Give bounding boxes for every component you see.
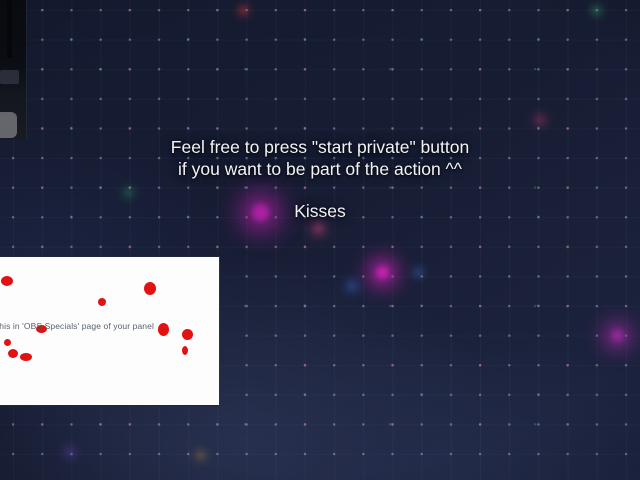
grid-lines: [0, 0, 640, 480]
grid-dots: [0, 0, 640, 480]
overlay-message: Feel free to press "start private" butto…: [0, 136, 640, 180]
sliver-pill-button[interactable]: [0, 112, 17, 138]
glow-violet-1: [67, 449, 73, 455]
vignette-overlay: [0, 0, 640, 480]
marker-6: [182, 346, 188, 355]
marker-8: [8, 349, 18, 358]
grid-dots-blue: [0, 0, 640, 480]
background-grid: [0, 0, 640, 480]
marker-3: [1, 276, 13, 286]
glow-green-2: [126, 190, 131, 195]
glow-pink-1: [315, 225, 322, 232]
glow-magenta-3: [611, 329, 624, 342]
marker-9: [20, 353, 32, 361]
grid-dots-pink: [0, 0, 640, 480]
glow-blue-1: [349, 283, 355, 289]
overlay-message-line-1: Feel free to press "start private" butto…: [0, 136, 640, 158]
marker-10: [4, 339, 11, 346]
screen-stage: Feel free to press "start private" butto…: [0, 0, 640, 480]
glow-green-1: [594, 8, 599, 13]
glow-magenta-2: [376, 266, 389, 279]
notice-panel-text: our panel this in 'OBS Specials' page of…: [0, 321, 220, 332]
browser-edge-sliver: [0, 0, 27, 140]
overlay-message-line-2: if you want to be part of the action ^^: [0, 158, 640, 180]
sliver-bar: [7, 0, 12, 58]
glow-blue-2: [416, 270, 421, 275]
grid-dots-green: [0, 0, 640, 480]
glow-pink-2: [537, 117, 543, 123]
overlay-message-signoff: Kisses: [0, 200, 640, 222]
glow-red-1: [241, 8, 246, 13]
marker-1: [144, 282, 156, 295]
glow-amber-1: [198, 453, 203, 458]
sliver-chip: [0, 70, 19, 84]
marker-2: [98, 298, 106, 306]
